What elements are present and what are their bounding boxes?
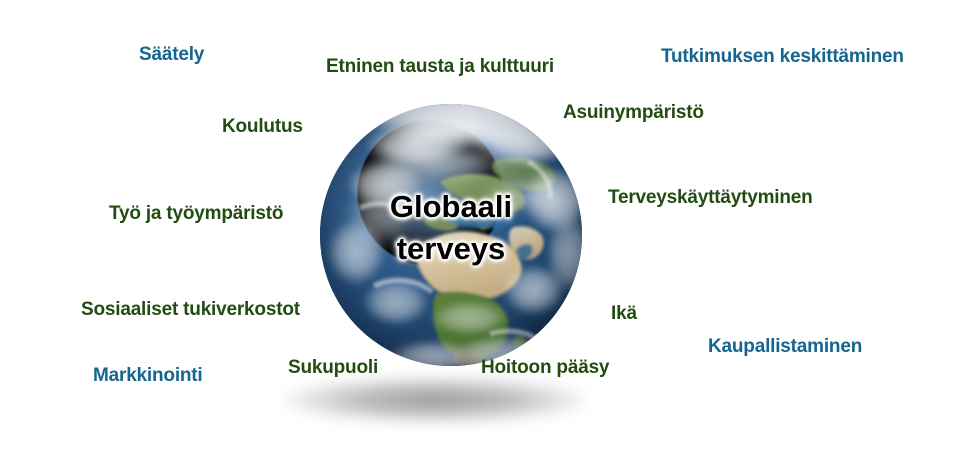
- earth-globe-icon: [320, 104, 582, 366]
- label-sukupuoli: Sukupuoli: [288, 358, 378, 377]
- label-kaupallistaminen: Kaupallistaminen: [708, 337, 862, 356]
- label-ika: Ikä: [611, 304, 637, 323]
- label-asuinymparisto: Asuinympäristö: [563, 103, 704, 122]
- label-tyo-ja-tyoymparisto: Työ ja työympäristö: [109, 204, 283, 223]
- label-markkinointi: Markkinointi: [93, 366, 203, 385]
- global-health-diagram: Globaali terveys Säätely Etninen tausta …: [0, 0, 964, 475]
- label-saately: Säätely: [139, 45, 204, 64]
- label-hoitoon-paasy: Hoitoon pääsy: [481, 358, 609, 377]
- label-tutkimuksen-keskittaminen: Tutkimuksen keskittäminen: [661, 47, 904, 66]
- earth-globe-surface: [320, 104, 582, 366]
- globe-drop-shadow: [285, 377, 585, 423]
- label-terveyskayttaytyminen: Terveyskäyttäytyminen: [608, 188, 813, 207]
- label-sosiaaliset-tukiverkostot: Sosiaaliset tukiverkostot: [81, 300, 300, 319]
- label-koulutus: Koulutus: [222, 117, 303, 136]
- label-etninen-tausta-ja-kulttuuri: Etninen tausta ja kulttuuri: [326, 57, 554, 76]
